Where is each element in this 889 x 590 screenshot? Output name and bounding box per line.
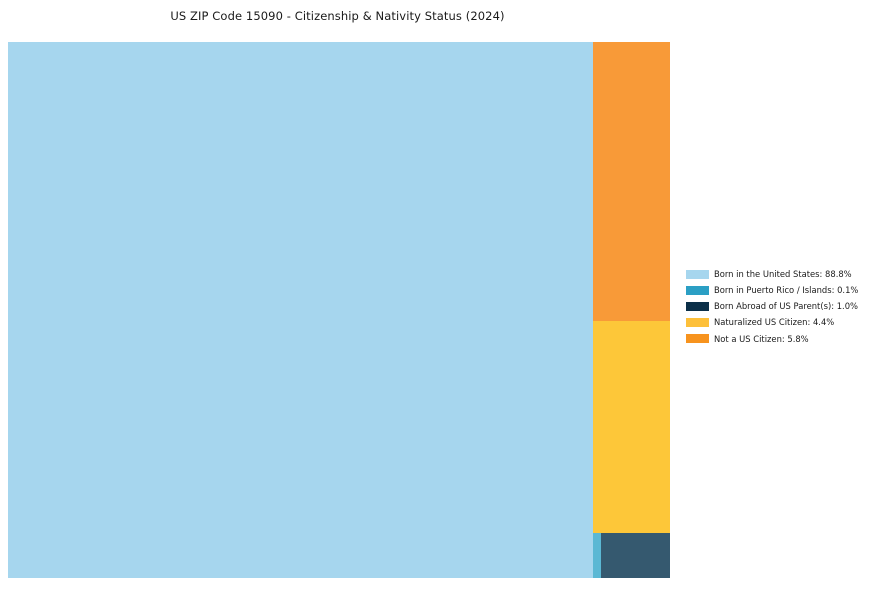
treemap-plot-area	[8, 42, 670, 578]
legend-item-born-in-united-states[interactable]: Born in the United States: 88.8%	[686, 266, 882, 282]
chart-legend: Born in the United States: 88.8%Born in …	[686, 266, 882, 347]
legend-label-not-a-us-citizen: Not a US Citizen: 5.8%	[714, 335, 809, 343]
legend-item-born-abroad-of-us-parents[interactable]: Born Abroad of US Parent(s): 1.0%	[686, 298, 882, 314]
treemap-tile-born-abroad-of-us-parents[interactable]	[601, 533, 670, 578]
treemap-tile-naturalized-us-citizen[interactable]	[593, 321, 670, 533]
legend-label-born-in-puerto-rico-islands: Born in Puerto Rico / Islands: 0.1%	[714, 286, 858, 294]
treemap-chart: US ZIP Code 15090 - Citizenship & Nativi…	[0, 0, 889, 590]
legend-swatch-naturalized-us-citizen	[686, 318, 709, 327]
legend-label-naturalized-us-citizen: Naturalized US Citizen: 4.4%	[714, 318, 834, 326]
chart-title: US ZIP Code 15090 - Citizenship & Nativi…	[0, 9, 675, 23]
legend-item-born-in-puerto-rico-islands[interactable]: Born in Puerto Rico / Islands: 0.1%	[686, 282, 882, 298]
legend-swatch-born-abroad-of-us-parents	[686, 302, 709, 311]
legend-label-born-in-united-states: Born in the United States: 88.8%	[714, 270, 852, 278]
legend-swatch-not-a-us-citizen	[686, 334, 709, 343]
legend-swatch-born-in-united-states	[686, 270, 709, 279]
treemap-tile-not-a-us-citizen[interactable]	[593, 42, 670, 321]
legend-item-naturalized-us-citizen[interactable]: Naturalized US Citizen: 4.4%	[686, 315, 882, 331]
legend-swatch-born-in-puerto-rico-islands	[686, 286, 709, 295]
legend-label-born-abroad-of-us-parents: Born Abroad of US Parent(s): 1.0%	[714, 302, 858, 310]
treemap-tile-born-in-united-states[interactable]	[8, 42, 593, 578]
treemap-tile-born-in-puerto-rico-islands[interactable]	[593, 533, 601, 578]
legend-item-not-a-us-citizen[interactable]: Not a US Citizen: 5.8%	[686, 331, 882, 347]
